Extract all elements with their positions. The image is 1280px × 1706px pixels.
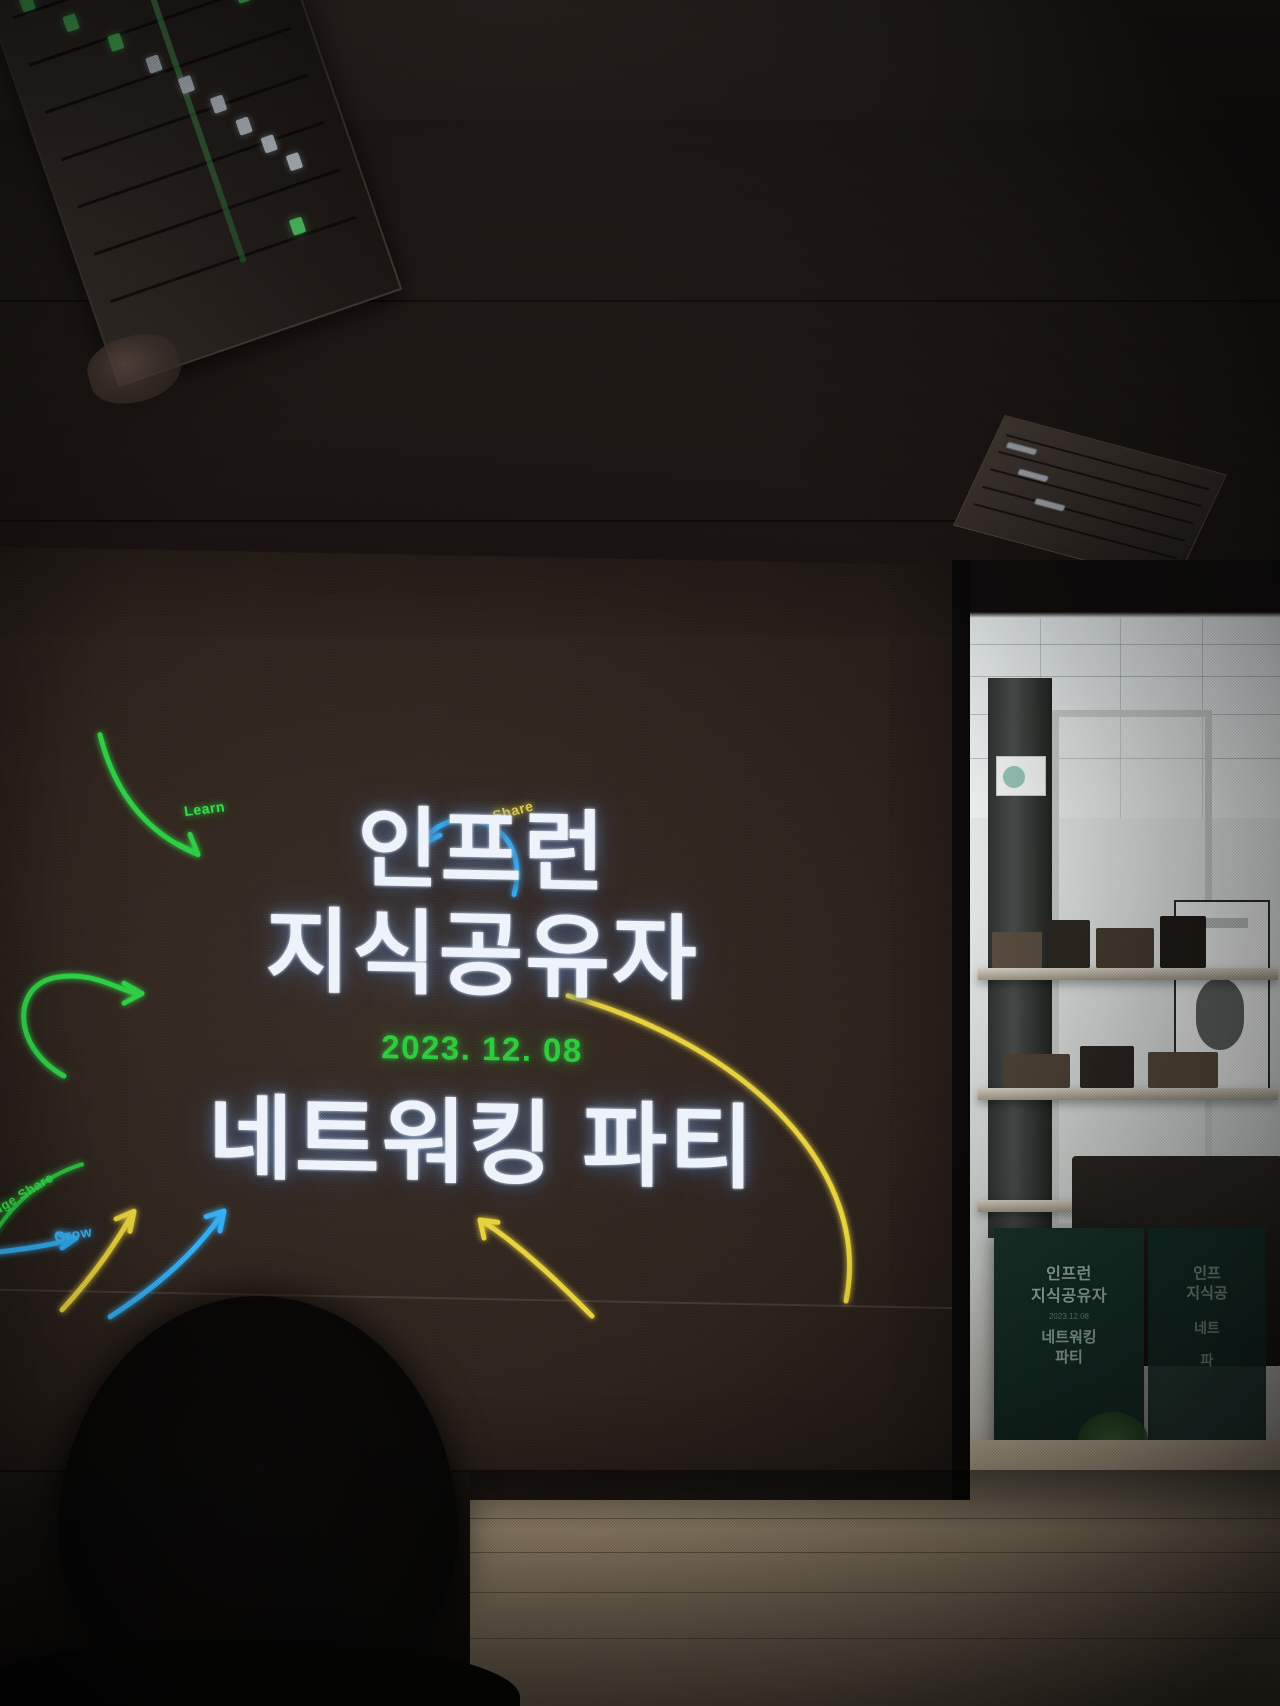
wall-sign <box>996 756 1046 796</box>
shelf-item <box>1160 916 1206 968</box>
shelf-unit <box>978 1088 1278 1100</box>
shelf-item <box>1048 920 1090 968</box>
doorway-opening: 인프런 지식공유자 2023.12.08 네트워킹 파티 인프 지식공 네트 파 <box>952 560 1280 1520</box>
slide-title-line-2: 지식공유자 <box>0 900 972 1013</box>
wall-sign-graphic <box>1003 766 1025 788</box>
shelf-item <box>1096 928 1154 968</box>
slide-title-line-3: 네트워킹 파티 <box>0 1088 972 1201</box>
shelf-item <box>1004 1054 1070 1088</box>
banner2-line-2: 지식공 <box>1148 1284 1266 1304</box>
banner2-line-1: 인프 <box>1148 1264 1266 1284</box>
shelf-unit <box>978 968 1278 980</box>
shelf-item <box>1080 1046 1134 1088</box>
banner-line-4: 파티 <box>994 1348 1144 1368</box>
shelf-item <box>992 932 1042 968</box>
banner2-line-4: 파 <box>1148 1351 1266 1369</box>
banner-line-1: 인프런 <box>994 1264 1144 1286</box>
photo-scene: Learn Share Grow ledge Share 인프런 지식공유자 2… <box>0 0 1280 1706</box>
slide-date: 2023. 12. 08 <box>0 1020 972 1077</box>
banner2-line-3: 네트 <box>1148 1319 1266 1337</box>
banner-line-3: 네트워킹 <box>994 1328 1144 1348</box>
banner-date: 2023.12.08 <box>994 1312 1144 1321</box>
banner-line-2: 지식공유자 <box>994 1286 1144 1308</box>
curved-arrow-icon <box>480 1220 592 1316</box>
slide-title-line-1: 인프런 <box>0 797 972 906</box>
ceiling-seam <box>0 520 980 522</box>
shelf-item <box>1148 1052 1218 1088</box>
slide-title-block: 인프런 지식공유자 2023. 12. 08 네트워킹 파티 <box>0 797 972 1201</box>
